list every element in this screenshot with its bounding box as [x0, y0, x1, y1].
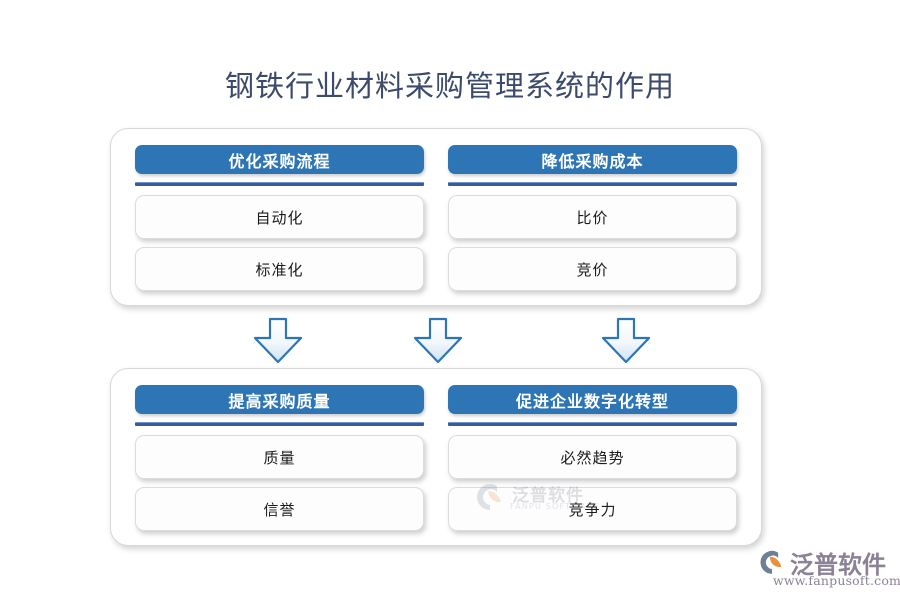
item-box[interactable]: 必然趋势 — [448, 435, 737, 479]
brand-logo: 泛普软件 www.fanpusoft.com — [757, 546, 897, 594]
item-box[interactable]: 质量 — [135, 435, 424, 479]
item-list: 必然趋势 竞争力 — [448, 435, 737, 531]
column-header-improve-quality[interactable]: 提高采购质量 — [135, 385, 424, 414]
column-divider — [135, 182, 424, 186]
item-box[interactable]: 信誉 — [135, 487, 424, 531]
column-header-digital-transformation[interactable]: 促进企业数字化转型 — [448, 385, 737, 414]
item-list: 质量 信誉 — [135, 435, 424, 531]
group-panel-bottom: 提高采购质量 质量 信誉 促进企业数字化转型 必然趋势 竞争力 — [110, 368, 762, 546]
arrow-down-icon — [410, 316, 466, 366]
item-box[interactable]: 竞价 — [448, 247, 737, 291]
arrow-row — [110, 316, 762, 370]
column-digital-transformation: 促进企业数字化转型 必然趋势 竞争力 — [448, 385, 737, 531]
arrow-down-icon — [250, 316, 306, 366]
column-optimize-process: 优化采购流程 自动化 标准化 — [135, 145, 424, 291]
page-title: 钢铁行业材料采购管理系统的作用 — [0, 63, 900, 105]
column-divider — [448, 422, 737, 426]
column-header-reduce-cost[interactable]: 降低采购成本 — [448, 145, 737, 174]
fanpu-mark-icon — [757, 548, 787, 576]
arrow-down-icon — [598, 316, 654, 366]
item-list: 比价 竞价 — [448, 195, 737, 291]
item-list: 自动化 标准化 — [135, 195, 424, 291]
item-box[interactable]: 标准化 — [135, 247, 424, 291]
item-box[interactable]: 比价 — [448, 195, 737, 239]
panel-columns: 优化采购流程 自动化 标准化 降低采购成本 比价 竞价 — [111, 129, 761, 305]
column-divider — [448, 182, 737, 186]
item-box[interactable]: 竞争力 — [448, 487, 737, 531]
group-panel-top: 优化采购流程 自动化 标准化 降低采购成本 比价 竞价 — [110, 128, 762, 306]
item-box[interactable]: 自动化 — [135, 195, 424, 239]
column-divider — [135, 422, 424, 426]
diagram-canvas: 钢铁行业材料采购管理系统的作用 优化采购流程 自动化 标准化 降低采购成本 比价… — [0, 0, 900, 600]
column-header-optimize-process[interactable]: 优化采购流程 — [135, 145, 424, 174]
column-reduce-cost: 降低采购成本 比价 竞价 — [448, 145, 737, 291]
brand-url: www.fanpusoft.com — [773, 573, 900, 588]
panel-columns: 提高采购质量 质量 信誉 促进企业数字化转型 必然趋势 竞争力 — [111, 369, 761, 545]
column-improve-quality: 提高采购质量 质量 信誉 — [135, 385, 424, 531]
